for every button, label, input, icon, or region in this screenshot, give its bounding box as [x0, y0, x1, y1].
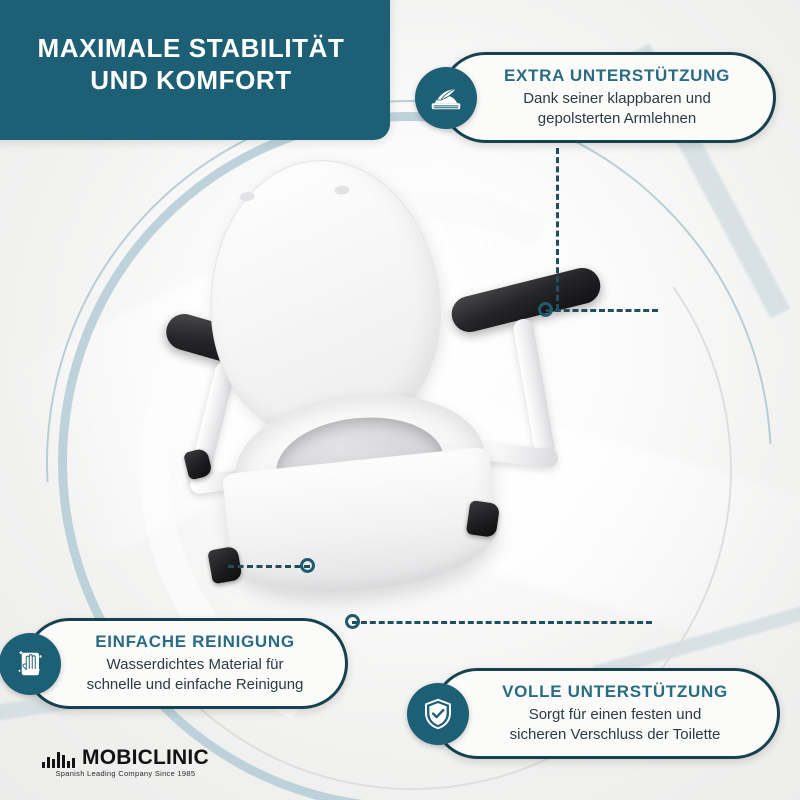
- callout-easy-cleaning[interactable]: EINFACHE REINIGUNG Wasserdichtes Materia…: [24, 618, 348, 709]
- cleaning-hand-icon: [0, 633, 61, 695]
- connector-line-extra-horizontal: [546, 309, 658, 312]
- riser-base: [222, 446, 502, 603]
- callout-body: Dank seiner klappbaren und gepolsterten …: [487, 89, 747, 128]
- connector-endpoint-clamp: [345, 614, 360, 629]
- logo-wordmark: MOBICLINIC: [82, 747, 209, 768]
- callout-title: EXTRA UNTERSTÜTZUNG: [487, 65, 747, 86]
- connector-line-extra-vertical: [556, 148, 559, 310]
- header-banner: MAXIMALE STABILITÄT UND KOMFORT: [0, 0, 390, 140]
- connector-line-support: [352, 621, 652, 624]
- callout-extra-support[interactable]: EXTRA UNTERSTÜTZUNG Dank seiner klappbar…: [440, 52, 776, 143]
- product-image: [150, 150, 670, 620]
- logo-bars-icon: [42, 750, 75, 768]
- armrest-post-right: [512, 317, 556, 458]
- clamp-knob-right: [466, 500, 500, 538]
- connector-endpoint-armrest: [538, 302, 553, 317]
- connector-line-cleaning: [228, 565, 310, 568]
- infographic-canvas: MAXIMALE STABILITÄT UND KOMFORT EXTRA UN…: [0, 0, 800, 800]
- shield-check-icon: [407, 683, 469, 745]
- cushion-icon: [415, 67, 477, 129]
- callout-title: VOLLE UNTERSTÜTZUNG: [479, 681, 751, 702]
- brand-logo: MOBICLINIC Spanish Leading Company Since…: [42, 747, 209, 778]
- connector-endpoint-body: [300, 558, 315, 573]
- callout-title: EINFACHE REINIGUNG: [71, 631, 319, 652]
- logo-tagline: Spanish Leading Company Since 1985: [55, 769, 195, 778]
- callout-full-support[interactable]: VOLLE UNTERSTÜTZUNG Sorgt für einen fest…: [432, 668, 780, 759]
- callout-body: Wasserdichtes Material für schnelle und …: [71, 655, 319, 694]
- page-title: MAXIMALE STABILITÄT UND KOMFORT: [38, 33, 345, 96]
- callout-body: Sorgt für einen festen und sicheren Vers…: [479, 705, 751, 744]
